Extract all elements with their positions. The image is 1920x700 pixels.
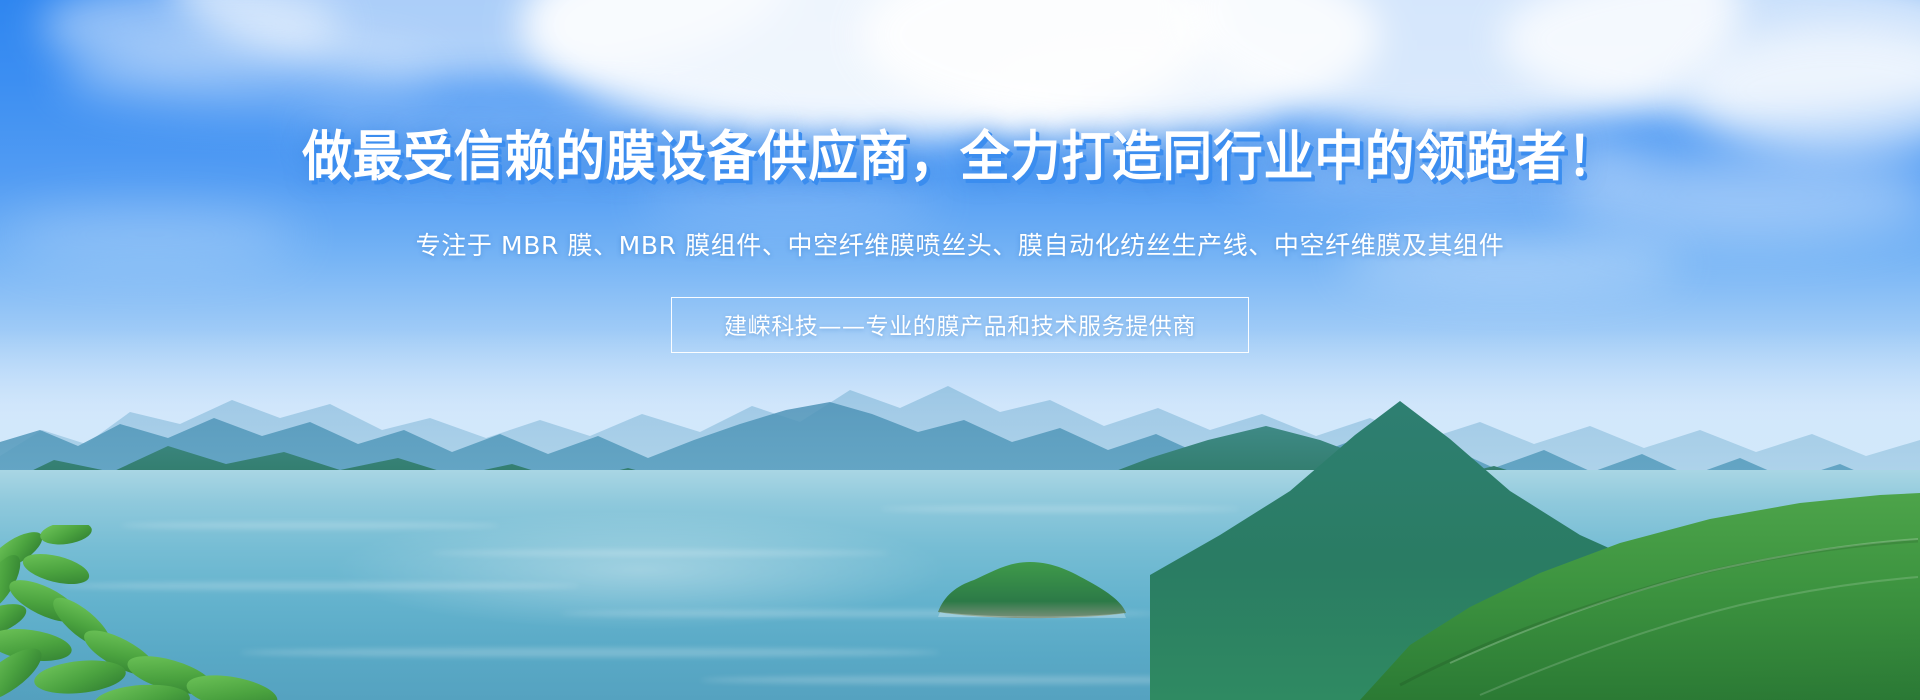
banner-subheadline: 专注于 MBR 膜、MBR 膜组件、中空纤维膜喷丝头、膜自动化纺丝生产线、中空纤… — [0, 226, 1920, 262]
banner-headline: 做最受信赖的膜设备供应商，全力打造同行业中的领跑者！ — [77, 112, 1843, 191]
tagline-box: 建嵘科技——专业的膜产品和技术服务提供商 — [671, 297, 1249, 353]
tagline-container: 建嵘科技——专业的膜产品和技术服务提供商 — [0, 297, 1920, 353]
hero-banner: 做最受信赖的膜设备供应商，全力打造同行业中的领跑者！ 专注于 MBR 膜、MBR… — [0, 0, 1920, 700]
banner-content: 做最受信赖的膜设备供应商，全力打造同行业中的领跑者！ 专注于 MBR 膜、MBR… — [0, 0, 1920, 700]
